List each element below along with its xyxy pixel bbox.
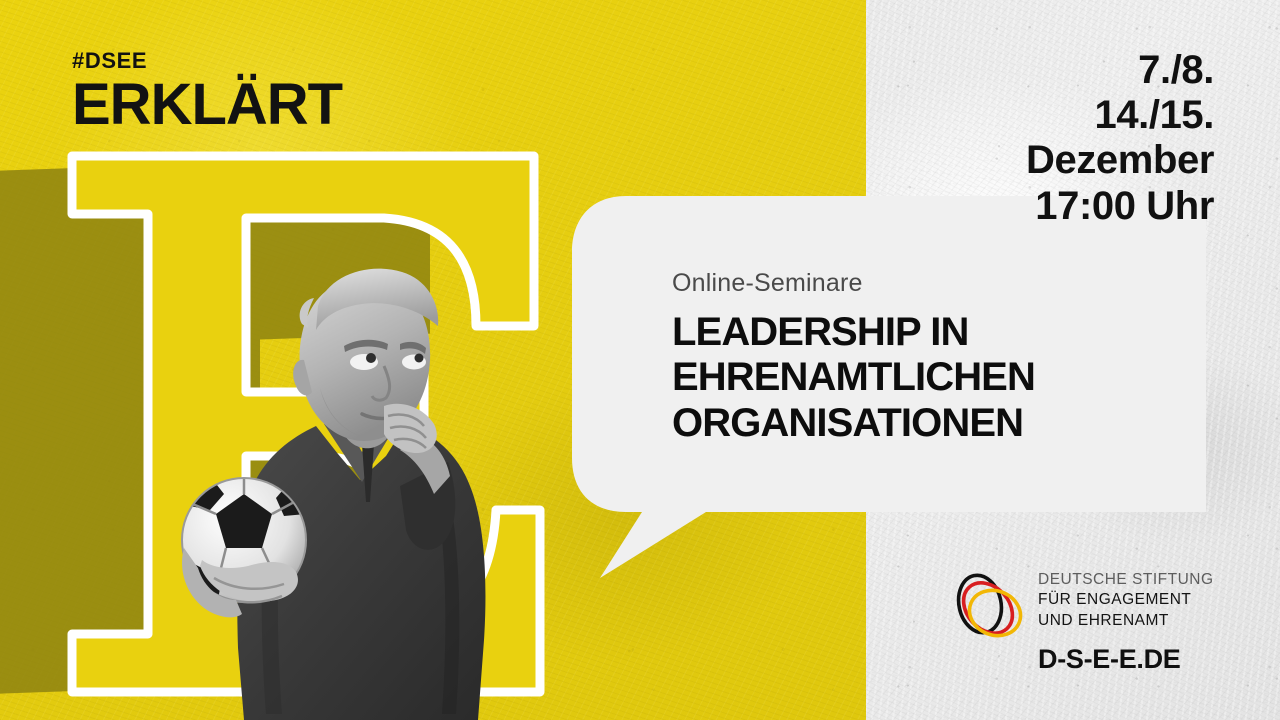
logo-url: D-S-E-E.DE: [1038, 644, 1181, 675]
seminar-text-block: Online-Seminare LEADERSHIP IN EHRENAMTLI…: [672, 270, 1202, 446]
thinking-man-photo: [148, 248, 568, 720]
seminar-headline: LEADERSHIP IN EHRENAMTLICHEN ORGANISATIO…: [672, 310, 1202, 447]
headline-line-2: EHRENAMTLICHEN: [672, 355, 1202, 401]
date-line-2: 14./15.: [1026, 93, 1214, 138]
dsee-loop-mark-icon: [950, 568, 1024, 644]
headline-line-1: LEADERSHIP IN: [672, 310, 1202, 356]
campaign-word: ERKLÄRT: [72, 76, 342, 134]
campaign-lockup: #DSEE ERKLÄRT: [72, 50, 342, 134]
logo-line-3: UND EHRENAMT: [1038, 611, 1214, 631]
campaign-hashtag: #DSEE: [72, 50, 342, 72]
date-month: Dezember: [1026, 138, 1214, 183]
headline-line-3: ORGANISATIONEN: [672, 401, 1202, 447]
logo-line-2: FÜR ENGAGEMENT: [1038, 590, 1214, 610]
dsee-logo: DEUTSCHE STIFTUNG FÜR ENGAGEMENT UND EHR…: [950, 562, 1230, 694]
date-time: 17:00 Uhr: [1026, 184, 1214, 229]
logo-line-1: DEUTSCHE STIFTUNG: [1038, 570, 1214, 590]
dsee-logo-text: DEUTSCHE STIFTUNG FÜR ENGAGEMENT UND EHR…: [1038, 570, 1214, 631]
promo-slide: #DSEE ERKLÄRT 7./8. 14./15. Dezember 17:…: [0, 0, 1280, 720]
event-dates: 7./8. 14./15. Dezember 17:00 Uhr: [1026, 48, 1214, 229]
seminar-kicker: Online-Seminare: [672, 270, 1202, 298]
date-line-1: 7./8.: [1026, 48, 1214, 93]
